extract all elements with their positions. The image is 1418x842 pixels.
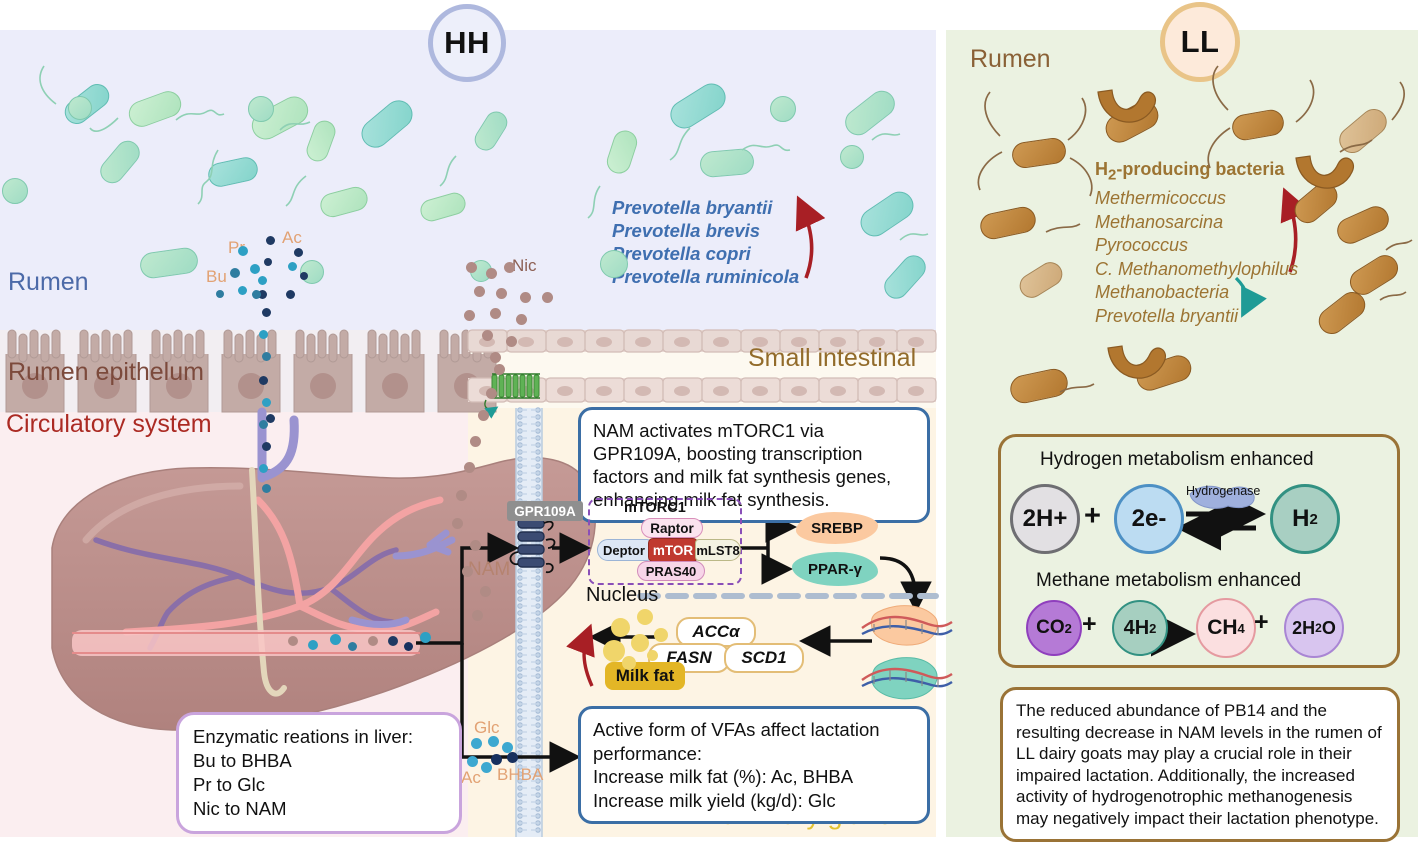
label-bhba: BHBA [497,765,543,785]
bacterium-coccus-hh [68,96,92,120]
dot-nam-transit [480,586,491,597]
dot-propionate [258,276,267,285]
hh-species-item: Prevotella brevis [612,219,799,242]
hydrogenase-label: Hydrogenase [1186,484,1260,498]
molecule-co2: CO2 [1026,600,1082,656]
ll-conclusion-text: The reduced abundance of PB14 and the re… [1016,700,1384,829]
molecule-2h-plus: 2H+ [1010,484,1080,554]
molecule-4h2: 4H2 [1112,600,1168,656]
dot-nam-transit [470,540,481,551]
node-mtor: mTOR [648,538,698,562]
node-raptor: Raptor [641,518,703,538]
dot-nam-transit [470,436,481,447]
label-rumen-epithelium: Rumen epithelum [8,358,204,387]
dot-nicotinamide [486,268,497,279]
dot-propionate [238,246,248,256]
node-deptor: Deptor [597,539,651,561]
dot-nicotinamide [506,336,517,347]
lipid-droplet [611,618,630,637]
hh-species-item: Prevotella bryantii [612,196,799,219]
callout-liver-enzymatic-reactions: Enzymatic reations in liver: Bu to BHBA … [176,712,462,834]
liver-line-1: Enzymatic reations in liver: [193,725,445,749]
vfa-line-1: Active form of VFAs affect lactation per… [593,718,915,765]
node-pras40: PRAS40 [637,561,705,581]
dot-in-bloodstream [330,634,341,645]
label-ac: Ac [282,228,302,248]
hydrogen-metabolism-title: Hydrogen metabolism enhanced [1040,449,1314,471]
dot-acetate [286,290,295,299]
callout-vfa-lactation: Active form of VFAs affect lactation per… [578,706,930,824]
dot-in-bloodstream [368,636,378,646]
dot-nicotinamide [516,314,527,325]
dot-vfa-transit [262,308,271,317]
dot-butyrate [252,290,261,299]
dot-nam-transit [494,364,505,375]
dot-vfa-transit [262,442,271,451]
dot-vfa-transit [259,464,268,473]
liver-line-2: Bu to BHBA [193,749,445,773]
dot-nam-transit [452,518,463,529]
gpr109a-label: GPR109A [507,501,583,521]
hh-species-list: Prevotella bryantii Prevotella brevis Pr… [612,196,799,288]
dot-substrate-mammary [488,736,499,747]
dot-substrate-mammary [467,756,478,767]
dot-vfa-transit [262,484,271,493]
ll-species-item: Methanosarcina [1095,211,1298,235]
liver-line-4: Nic to NAM [193,797,445,821]
label-bu: Bu [206,267,227,287]
dot-substrate-mammary [507,752,518,763]
figure-root: HH LL Rumen Rumen epithelum Circulatory … [0,0,1418,837]
dot-nicotinamide [542,292,553,303]
dot-vfa-transit [259,330,268,339]
dot-substrate-mammary [481,762,492,773]
bacterium-coccus-hh [2,178,28,204]
dot-nam-transit [464,462,475,473]
dot-nicotinamide [490,308,501,319]
bacterium-coccus-hh [248,96,274,122]
dot-in-bloodstream [288,636,298,646]
molecule-2h2o: 2H2O [1284,598,1344,658]
milk-fat-label: Milk fat [605,662,685,690]
dot-nicotinamide [490,352,501,363]
bacterium-coccus-hh [770,96,796,122]
plus-sign-hydrogen: + [1084,500,1101,533]
plus-sign-methane-right: + [1254,608,1269,637]
bacterium-coccus-hh [840,145,864,169]
plus-sign-methane-left: + [1082,610,1097,639]
bacterium-coccus-hh [600,250,628,278]
ll-species-list: H2-producing bacteria Methermicoccus Met… [1095,158,1298,328]
dot-nicotinamide [474,286,485,297]
dot-nicotinamide [496,288,507,299]
vfa-line-3: Increase milk yield (kg/d): Glc [593,789,915,813]
ll-species-item: Methermicoccus [1095,187,1298,211]
dot-vfa-transit [262,398,271,407]
callout-ll-conclusion: The reduced abundance of PB14 and the re… [1000,687,1400,842]
molecule-ch4: CH4 [1196,598,1256,658]
liver-line-3: Pr to Glc [193,773,445,797]
label-circulatory-system: Circulatory system [6,410,212,439]
label-small-intestinal: Small intestinal [748,344,916,373]
nam-label: NAM [468,559,510,581]
node-mlst8: mLST8 [695,539,741,561]
dot-propionate [288,262,297,271]
ll-species-header: H2-producing bacteria [1095,158,1298,187]
dot-propionate [238,286,247,295]
dot-in-bloodstream [404,642,413,651]
dot-nam-transit [478,410,489,421]
dot-in-bloodstream [308,640,318,650]
dot-in-bloodstream [388,636,398,646]
dot-nam-transit [456,490,467,501]
ll-species-item: Pyrococcus [1095,234,1298,258]
lipid-droplet [647,650,658,661]
ll-species-item: Methanobacteria [1095,281,1298,305]
dot-nicotinamide [464,310,475,321]
hh-species-item: Prevotella ruminicola [612,265,799,288]
dot-vfa-transit [262,352,271,361]
ll-species-item: Prevotella bryantii [1095,305,1298,329]
label-glc: Glc [474,718,500,738]
dot-butyrate [230,268,240,278]
ll-species-item: C. Methanomethylophilus [1095,258,1298,282]
dot-vfa-transit [259,376,268,385]
hh-species-item: Prevotella copri [612,242,799,265]
lipid-droplet [654,628,668,642]
dot-nicotinamide [504,262,515,273]
label-rumen-right: Rumen [970,45,1051,74]
molecule-2e-minus: 2e- [1114,484,1184,554]
label-nic: Nic [512,256,537,276]
lipid-droplet [631,634,649,652]
dot-nam-transit [462,566,473,577]
dot-acetate [300,272,308,280]
gene-scd1: SCD1 [724,643,804,673]
dot-in-bloodstream [420,632,431,643]
dot-nicotinamide [520,292,531,303]
dot-in-bloodstream [348,642,357,651]
dot-acetate [264,258,272,266]
methane-metabolism-title: Methane metabolism enhanced [1036,570,1301,592]
dot-nam-transit [486,388,497,399]
label-rumen-left: Rumen [8,268,89,297]
label-ac-mammary: Ac [461,768,481,788]
dot-nicotinamide [482,330,493,341]
dot-acetate [266,236,275,245]
molecule-h2: H2 [1270,484,1340,554]
badge-ll: LL [1160,2,1240,82]
lipid-droplet [637,609,653,625]
dot-nicotinamide [466,262,477,273]
dot-substrate-mammary [471,738,482,749]
dot-substrate-mammary [491,754,502,765]
dot-propionate [250,264,260,274]
lipid-droplet [603,640,625,662]
dot-vfa-transit [266,414,275,423]
lipid-droplet [622,656,636,670]
nucleus-label: Nucleus [586,584,658,607]
dot-acetate [294,248,303,257]
mtorc1-label: mTORC1 [624,500,686,516]
dot-butyrate [216,290,224,298]
badge-hh: HH [428,4,506,82]
dot-nam-transit [472,610,483,621]
vfa-line-2: Increase milk fat (%): Ac, BHBA [593,765,915,789]
